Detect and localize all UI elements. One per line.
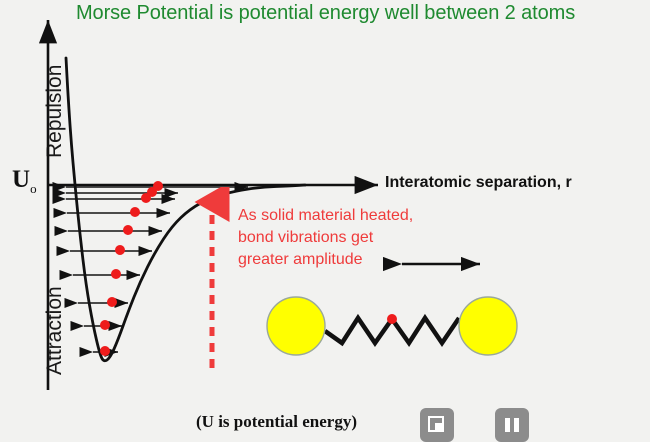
vibration-dot-7 <box>130 207 140 217</box>
diatomic-molecule-illustration <box>267 297 517 355</box>
vibration-dot-4 <box>111 269 121 279</box>
footnote-text: (U is potential energy) <box>196 412 357 432</box>
vibration-dot-6 <box>123 225 133 235</box>
morse-potential-slide: Morse Potential is potential energy well… <box>0 0 650 433</box>
vibration-position-dots <box>100 181 163 356</box>
vibration-dot-5 <box>115 245 125 255</box>
pause-button[interactable] <box>495 408 529 442</box>
atom-right <box>459 297 517 355</box>
pause-icon <box>495 408 529 442</box>
morse-potential-diagram <box>0 0 650 433</box>
vibration-dot-8 <box>141 193 151 203</box>
restore-window-button[interactable] <box>420 408 454 442</box>
vibration-dot-2 <box>100 320 110 330</box>
atom-left <box>267 297 325 355</box>
vibration-dot-3 <box>107 297 117 307</box>
vibration-dot-1 <box>100 346 110 356</box>
restore-window-icon <box>420 408 454 442</box>
bond-center-dot <box>387 314 397 324</box>
